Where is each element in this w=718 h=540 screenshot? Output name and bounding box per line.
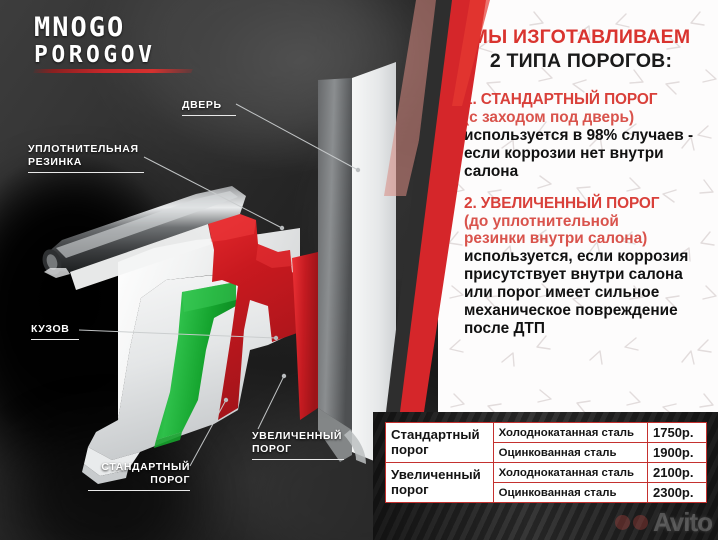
logo-line-1: MNOGO xyxy=(34,14,194,41)
sill-type-2-title: 2. УВЕЛИЧЕННЫЙ ПОРОГ xyxy=(464,195,714,213)
brand-logo: MNOGO POROGOV xyxy=(34,14,194,73)
price-table: Стандартный порог Холоднокатанная сталь … xyxy=(385,422,707,503)
price-row-price: 2100р. xyxy=(648,463,707,483)
callout-standard-label-2: ПОРОГ xyxy=(150,474,190,486)
door-inner-skin xyxy=(318,78,352,430)
sill-type-1: 1. СТАНДАРТНЫЙ ПОРОГ (с заходом под двер… xyxy=(464,91,714,181)
price-row-steel: Оцинкованная сталь xyxy=(493,443,647,463)
price-row-steel: Оцинкованная сталь xyxy=(493,483,647,503)
price-row-price: 2300р. xyxy=(648,483,707,503)
table-row: Увеличенный порог Холоднокатанная сталь … xyxy=(386,463,707,483)
price-row-steel: Холоднокатанная сталь xyxy=(493,423,647,443)
poster-root: MNOGO POROGOV xyxy=(0,0,718,540)
callout-extended-label-2: ПОРОГ xyxy=(252,443,292,455)
callout-body: КУЗОВ xyxy=(31,323,79,340)
price-row-type-standard: Стандартный порог xyxy=(386,423,494,463)
callout-rubber-label-1: УПЛОТНИТЕЛЬНАЯ xyxy=(28,143,139,155)
sill-type-1-text: используется в 98% случаев - если корроз… xyxy=(464,127,714,181)
logo-underline-swoosh xyxy=(33,69,193,73)
price-row-price: 1900р. xyxy=(648,443,707,463)
callout-standard-label-1: СТАНДАРТНЫЙ xyxy=(101,461,190,473)
door-outer-skin xyxy=(352,62,396,470)
callout-body-label: КУЗОВ xyxy=(31,323,69,335)
callout-underline xyxy=(88,490,190,491)
logo-line-2: POROGOV xyxy=(34,44,194,67)
price-row-steel: Холоднокатанная сталь xyxy=(493,463,647,483)
callout-extended-label-1: УВЕЛИЧЕННЫЙ xyxy=(252,430,342,442)
sill-type-2-text: используется, если коррозия присутствует… xyxy=(464,248,714,338)
callout-underline xyxy=(31,339,79,340)
panel-body: 1. СТАНДАРТНЫЙ ПОРОГ (с заходом под двер… xyxy=(464,91,714,352)
extended-sill-right xyxy=(292,252,318,420)
callout-door: ДВЕРЬ xyxy=(182,99,236,116)
sill-type-1-subtitle: (с заходом под дверь) xyxy=(464,109,714,127)
price-table-strip: Стандартный порог Холоднокатанная сталь … xyxy=(373,412,718,540)
panel-heading: МЫ ИЗГОТАВЛИВАЕМ 2 ТИПА ПОРОГОВ: xyxy=(450,26,712,73)
callout-extended-sill: УВЕЛИЧЕННЫЙ ПОРОГ xyxy=(252,430,344,460)
sill-type-2-subtitle-line-1: (до уплотнительной xyxy=(464,213,714,231)
heading-line-1: МЫ ИЗГОТАВЛИВАЕМ xyxy=(450,26,712,48)
price-row-price: 1750р. xyxy=(648,423,707,443)
sill-type-2: 2. УВЕЛИЧЕННЫЙ ПОРОГ (до уплотнительной … xyxy=(464,195,714,339)
price-row-type-extended: Увеличенный порог xyxy=(386,463,494,503)
callout-door-label: ДВЕРЬ xyxy=(182,99,222,111)
table-row: Стандартный порог Холоднокатанная сталь … xyxy=(386,423,707,443)
callout-rubber-seal: УПЛОТНИТЕЛЬНАЯ РЕЗИНКА xyxy=(28,143,144,173)
callout-underline xyxy=(182,115,236,116)
callout-underline xyxy=(28,172,144,173)
heading-line-2: 2 ТИПА ПОРОГОВ: xyxy=(450,50,712,72)
callout-rubber-label-2: РЕЗИНКА xyxy=(28,156,82,168)
callout-underline xyxy=(252,459,344,460)
sill-type-2-subtitle-line-2: резинки внутри салона) xyxy=(464,230,714,248)
sill-type-1-title: 1. СТАНДАРТНЫЙ ПОРОГ xyxy=(464,91,714,109)
callout-standard-sill: СТАНДАРТНЫЙ ПОРОГ xyxy=(88,461,190,491)
